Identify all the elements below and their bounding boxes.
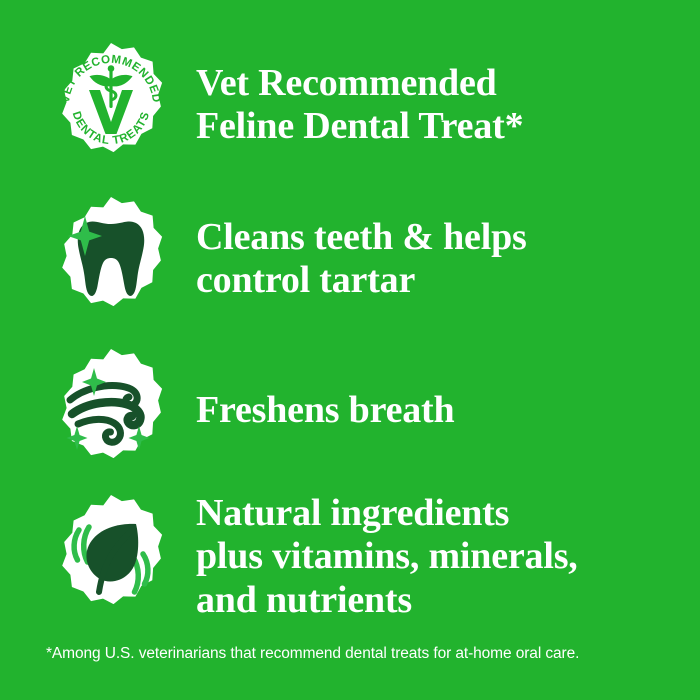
promo-panel: VET RECOMMENDED DENTAL TREATS <box>0 0 700 700</box>
feature-row: Cleans teeth & helps control tartar <box>44 192 527 326</box>
vet-recommended-dental-treats-badge-icon: VET RECOMMENDED DENTAL TREATS <box>44 38 178 172</box>
feature-row: Natural ingredients plus vitamins, miner… <box>44 490 578 624</box>
feature-line: and nutrients <box>196 579 578 622</box>
feature-text: Freshens breath <box>196 389 454 432</box>
feature-text: Vet Recommended Feline Dental Treat* <box>196 62 523 149</box>
leaf-motion-icon <box>44 490 178 624</box>
feature-row: VET RECOMMENDED DENTAL TREATS <box>44 38 523 172</box>
feature-row: Freshens breath <box>44 344 454 478</box>
feature-line: control tartar <box>196 259 527 302</box>
feature-line: plus vitamins, minerals, <box>196 535 578 578</box>
tooth-sparkle-icon <box>44 192 178 326</box>
feature-text: Cleans teeth & helps control tartar <box>196 216 527 303</box>
feature-line: Freshens breath <box>196 389 454 432</box>
feature-line: Natural ingredients <box>196 492 578 535</box>
feature-line: Cleans teeth & helps <box>196 216 527 259</box>
feature-line: Vet Recommended <box>196 62 523 105</box>
footnote-disclaimer: *Among U.S. veterinarians that recommend… <box>46 645 666 663</box>
fresh-breath-wind-sparkle-icon <box>44 344 178 478</box>
feature-text: Natural ingredients plus vitamins, miner… <box>196 492 578 622</box>
feature-line: Feline Dental Treat* <box>196 105 523 148</box>
